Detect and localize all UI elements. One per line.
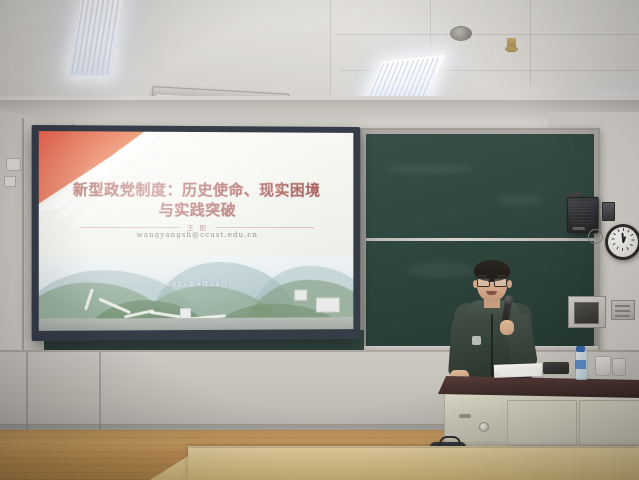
podium-lock-icon[interactable] [479,422,489,432]
clock-minute-hand [621,233,623,243]
podium-body [444,392,639,448]
wall-device-panel[interactable] [602,202,615,221]
wall-speaker-icon [567,197,599,234]
slide-bottom-bar [39,317,354,331]
glasses-bridge [488,281,494,282]
bottle-label [575,360,586,369]
wall-outlet-upper [6,158,21,171]
slide-title-line-1: 新型政党制度：历史使命、现实困境 [53,180,340,201]
rule-right [215,227,314,228]
slide-title: 新型政党制度：历史使命、现实困境 与实践突破 [53,180,340,221]
rule-left [79,226,180,227]
podium-handle[interactable] [459,414,471,418]
bottle-cap [576,346,585,352]
dado-seam-b [99,352,101,430]
front-bench [188,448,639,480]
desk-cup-b [612,358,626,376]
presenter [448,258,540,380]
blackboard-panel-divider [366,238,594,241]
desk-cup-a [595,356,611,376]
presenter-jacket-logo [472,336,481,345]
glasses-right-lens [494,278,507,287]
ceiling-speaker-icon [450,26,472,41]
cable-coil [588,229,603,244]
glasses-left-lens [477,278,490,287]
slide-date: 2025年4月25日 [39,278,354,289]
presentation-slide: 新型政党制度：历史使命、现实困境 与实践突破 王 阳 wangyangsh@cc… [39,131,354,331]
dado-seam-a [26,352,28,432]
presenter-right-hand [500,320,514,335]
laptop-device [543,362,569,374]
wall-switch-panel[interactable] [611,300,635,320]
wall-outlet-lower [4,176,16,187]
wall-top-shadow [0,100,639,126]
lecture-hall-photo: 新型政党制度：历史使命、现实困境 与实践突破 王 阳 wangyangsh@cc… [0,0,639,480]
av-control-box[interactable] [568,296,606,328]
slide-title-line-2: 与实践突破 [53,200,340,220]
presenter-jacket-zipper [491,314,493,380]
wall-clock-icon [605,224,639,260]
slide-email: wangyangsh@ccust.edu.cn [39,231,354,239]
lectern-cabinet [438,376,639,448]
sprinkler-head-icon [507,38,516,52]
projection-screen[interactable]: 新型政党制度：历史使命、现实困境 与实践突破 王 阳 wangyangsh@cc… [32,125,361,341]
paper-stack-2 [500,368,540,377]
